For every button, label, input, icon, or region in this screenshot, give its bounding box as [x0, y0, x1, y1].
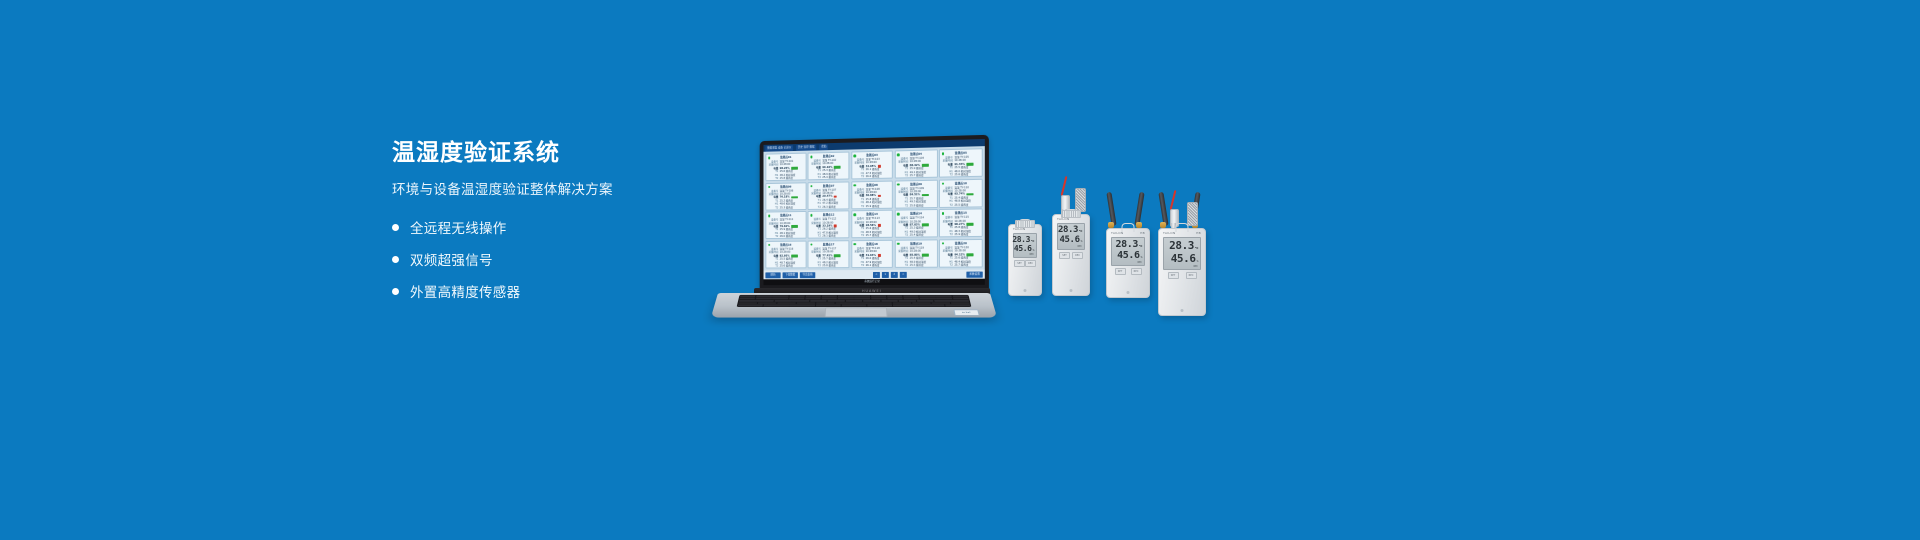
probe-cable: [1061, 176, 1068, 196]
sensor-card-row: T226.3 摄氏度: [810, 205, 847, 209]
sensor-card-row: T225.8 摄氏度: [768, 176, 804, 180]
laptop-screen: 数据采集 设备 记录仪 历史 监控 数据 帮助 监测点01设备号温湿 TY-10…: [763, 139, 984, 285]
lcd-display: 28.3℃45.6%REC: [1163, 237, 1201, 270]
humidity-unit: %: [1197, 259, 1198, 263]
pager-prev[interactable]: <: [873, 271, 880, 277]
sensor-card-row: T225.7 摄氏度: [942, 263, 981, 267]
sensor-row-key: T2: [853, 175, 864, 179]
keyboard-key[interactable]: [867, 305, 892, 307]
status-led-icon: [768, 244, 770, 247]
keyboard-key[interactable]: [945, 305, 970, 307]
sensor-card-header: 监测点04: [897, 151, 935, 157]
sensor-card-grid: 监测点01设备号温湿 TY-101采集时间10:28:00电量98.26%T12…: [763, 146, 984, 270]
lcd-display: 28.3℃45.6%REC: [1111, 237, 1145, 266]
sensor-card-header: 监测点13: [853, 212, 890, 218]
sensor-card[interactable]: 监测点09设备号温湿 TY-109采集时间10:28:00电量84.51%T12…: [895, 179, 938, 208]
pager-next[interactable]: >: [900, 271, 907, 277]
device-model-label: HB: [1140, 231, 1145, 235]
toolbar-button-download[interactable]: 下载数据: [783, 272, 798, 278]
sensor-card[interactable]: 监测点11设备号温湿 TY-111采集时间10:28:00电量79.62%T12…: [765, 211, 806, 239]
sensor-card-row: T225.6 摄氏度: [942, 173, 981, 177]
sensor-card-header: 监测点11: [768, 213, 804, 218]
sensor-card[interactable]: 监测点13设备号温湿 TY-113采集时间10:28:00电量28.56%T12…: [851, 210, 893, 239]
sensor-row-value: 25.7 摄氏度: [954, 263, 968, 267]
sensor-card[interactable]: 监测点20设备号温湿 TY-120采集时间10:28:00电量94.12%T12…: [939, 239, 983, 268]
sensor-card-title: 监测点17: [823, 242, 834, 247]
temperature-unit: ℃: [1079, 229, 1082, 233]
sensor-card-row: T225.4 摄氏度: [897, 234, 935, 238]
sensor-row-key: T2: [810, 176, 821, 180]
laptop-base: intel: [711, 293, 997, 318]
sensor-row-key: T2: [897, 174, 908, 178]
sensor-row-value: 26.0 摄氏度: [780, 235, 793, 238]
sensor-card-row: T225.3 摄氏度: [768, 206, 804, 210]
sensor-card-row: T225.8 摄氏度: [810, 264, 847, 268]
sensor-card-row: T225.5 摄氏度: [942, 203, 981, 207]
status-led-icon: [853, 184, 856, 187]
sensor-row-value: 26.1 摄氏度: [822, 235, 835, 239]
device-button[interactable]: SET: [1115, 268, 1126, 275]
sensor-probe-mesh: [1187, 202, 1198, 226]
temperature-value: 28.3: [1058, 225, 1078, 235]
status-led-icon: [810, 214, 813, 217]
sensor-card-row: T225.7 摄氏度: [897, 174, 935, 178]
sensor-card-row: T225.5 摄氏度: [897, 264, 935, 268]
temperature-value: 28.3: [1012, 235, 1030, 244]
sensor-card-header: 监测点16: [768, 242, 804, 247]
sensor-card-title: 监测点09: [910, 182, 922, 187]
sensor-card-title: 监测点16: [780, 243, 791, 248]
device-button[interactable]: SET: [1014, 260, 1025, 267]
device-button[interactable]: SET: [1168, 272, 1179, 279]
sensor-row-value: 25.7 摄氏度: [866, 234, 880, 238]
sensor-row-key: T2: [897, 234, 908, 238]
pager-page-2[interactable]: 2: [891, 271, 898, 277]
toolbar-button-settings[interactable]: 系统设置: [966, 271, 982, 277]
sensor-card-row: T226.1 摄氏度: [853, 264, 890, 268]
sensor-row-value: 25.4 摄氏度: [822, 176, 835, 180]
sensor-card-title: 监测点04: [910, 152, 922, 157]
status-led-icon: [810, 243, 813, 246]
laptop-touchpad[interactable]: [825, 308, 888, 317]
banner-subtitle: 环境与设备温湿度验证整体解决方案: [392, 182, 722, 200]
feature-label: 全远程无线操作: [410, 217, 507, 237]
sensor-row-key: T2: [897, 204, 908, 208]
sensor-card-row: T225.6 摄氏度: [768, 264, 804, 268]
vent-grille: [1061, 210, 1081, 218]
lcd-temperature-line: 28.3℃: [1060, 225, 1082, 235]
bullet-dot-icon: [392, 224, 399, 231]
device-button[interactable]: REC: [1025, 260, 1036, 267]
lcd-humidity-line: 45.6%: [1060, 235, 1082, 245]
feature-label: 双频超强信号: [410, 249, 493, 269]
sensor-row-key: T2: [942, 233, 953, 237]
humidity-value: 45.6: [1171, 252, 1196, 265]
sensor-row-value: 25.8 摄氏度: [822, 264, 835, 267]
sensor-card-header: 监测点12: [810, 213, 847, 218]
sensor-card[interactable]: 监测点19设备号温湿 TY-119采集时间10:28:00电量85.80%T12…: [895, 239, 938, 268]
humidity-value: 45.6: [1014, 244, 1032, 253]
sensor-card-header: 监测点03: [853, 153, 890, 159]
keyboard-row: [738, 305, 970, 307]
device-body: TAILON28.3℃45.6%RECSETREC: [1052, 214, 1090, 296]
sensor-card-title: 监测点06: [780, 184, 791, 189]
feature-label: 外置高精度传感器: [410, 281, 520, 301]
status-led-icon: [853, 213, 856, 216]
device-button-row: SETREC: [1053, 250, 1089, 259]
sensor-row-key: T2: [768, 206, 778, 210]
sensor-card[interactable]: 监测点01设备号温湿 TY-101采集时间10:28:00电量98.26%T12…: [765, 153, 806, 182]
status-led-icon: [897, 243, 900, 246]
sensor-row-key: T2: [853, 234, 864, 238]
temperature-unit: ℃: [1195, 246, 1198, 250]
sensor-card[interactable]: 监测点06设备号温湿 TY-106采集时间10:28:00电量76.18%T12…: [765, 182, 806, 210]
banner-copy: 温湿度验证系统 环境与设备温湿度验证整体解决方案 全远程无线操作 双频超强信号 …: [392, 140, 722, 313]
sensor-row-value: 25.9 摄氏度: [954, 233, 968, 237]
sensor-card-title: 监测点02: [823, 154, 834, 159]
sensor-card-title: 监测点14: [910, 212, 922, 217]
vent-grille: [1015, 220, 1035, 228]
sensor-row-key: T2: [942, 263, 953, 267]
humidity-unit: %: [1081, 239, 1082, 243]
feature-item: 外置高精度传感器: [392, 281, 722, 301]
device-body: TAILONHB28.3℃45.6%RECSETREC: [1106, 228, 1150, 298]
sensor-row-key: T2: [768, 235, 778, 238]
sensor-row-value: 26.0 摄氏度: [866, 175, 880, 179]
sensor-card-header: 监测点08: [853, 182, 890, 188]
lcd-humidity-line: 45.6%: [1166, 252, 1198, 265]
toolbar-button-refresh[interactable]: 刷新: [765, 272, 780, 278]
status-led-icon: [897, 213, 900, 216]
sensor-row-key: T2: [853, 205, 864, 209]
data-logger-device: TAILON28.3℃45.6%RECSETREC: [1052, 178, 1090, 320]
sensor-card[interactable]: 监测点17设备号温湿 TY-117采集时间10:28:00电量77.41%T12…: [808, 240, 850, 268]
lcd-display: 28.3℃45.6%REC: [1057, 223, 1085, 250]
sensor-card-title: 监测点18: [866, 242, 878, 247]
sensor-card-row: T225.7 摄氏度: [853, 234, 890, 238]
device-indicator-led-icon: [1024, 289, 1027, 292]
sensor-card-row: T225.8 摄氏度: [897, 204, 935, 208]
sensor-card[interactable]: 监测点02设备号温湿 TY-102采集时间10:28:00电量96.10%T12…: [808, 152, 850, 181]
sensor-card-title: 监测点03: [866, 153, 878, 158]
status-led-icon: [942, 242, 945, 245]
sensor-row-value: 25.7 摄氏度: [910, 174, 924, 178]
sensor-card-title: 监测点07: [823, 183, 834, 188]
lcd-temperature-line: 28.3℃: [1166, 239, 1198, 252]
sensor-row-key: T2: [942, 173, 953, 177]
sensor-card[interactable]: 监测点16设备号温湿 TY-116采集时间10:28:00电量82.95%T12…: [765, 240, 806, 268]
device-button-row: SETREC: [1159, 270, 1205, 279]
sensor-row-value: 25.5 摄氏度: [954, 203, 968, 207]
sensor-card-header: 监测点02: [810, 154, 847, 160]
pager-page-1[interactable]: 1: [882, 271, 889, 277]
device-button[interactable]: REC: [1186, 272, 1197, 279]
sensor-card-header: 监测点19: [897, 241, 935, 246]
sensor-row-key: T2: [897, 264, 908, 267]
hanging-hook-icon: [1122, 223, 1135, 232]
sensor-card-title: 监测点15: [955, 211, 967, 216]
device-model-label: HB: [1196, 231, 1201, 235]
device-button-row: SETREC: [1009, 258, 1041, 267]
lcd-status-text: REC: [1060, 245, 1082, 248]
temperature-unit: ℃: [1139, 244, 1142, 248]
device-body: TAILONHB28.3℃45.6%RECSETREC: [1158, 228, 1206, 316]
sensor-probe-mesh: [1075, 188, 1086, 212]
sensor-card-header: 监测点14: [897, 211, 935, 217]
sensor-card[interactable]: 监测点05设备号温湿 TY-105采集时间10:28:00电量91.33%T12…: [939, 148, 983, 178]
sensor-row-key: T2: [853, 264, 864, 267]
sensor-row-value: 25.4 摄氏度: [910, 234, 924, 238]
sensor-card-row: T226.1 摄氏度: [810, 235, 847, 239]
page-title: 温湿度验证系统: [392, 140, 722, 168]
device-button[interactable]: SET: [1059, 252, 1070, 259]
keyboard-key[interactable]: [816, 305, 841, 307]
keyboard-key[interactable]: [919, 305, 944, 307]
menu-item-history[interactable]: 历史 监控 数据: [796, 144, 816, 150]
sensor-card[interactable]: 监测点10设备号温湿 TY-110采集时间10:28:00电量93.74%T12…: [939, 178, 983, 207]
sensor-card[interactable]: 监测点12设备号温湿 TY-112采集时间10:28:00电量33.19%T12…: [808, 211, 850, 239]
sensor-row-key: T2: [810, 264, 821, 267]
sensor-card-title: 监测点20: [955, 241, 967, 246]
data-logger-device: TAILONHB28.3℃45.6%RECSETREC: [1106, 192, 1150, 322]
sensor-row-value: 25.9 摄氏度: [866, 205, 880, 209]
sensor-row-value: 25.3 摄氏度: [780, 206, 793, 210]
sensor-card-header: 监测点18: [853, 242, 890, 247]
status-led-icon: [768, 157, 770, 160]
sensor-card[interactable]: 监测点08设备号温湿 TY-108采集时间10:28:00电量30.88%T12…: [851, 180, 893, 209]
sensor-card[interactable]: 监测点15设备号温湿 TY-115采集时间10:28:00电量90.27%T12…: [939, 209, 983, 238]
status-led-icon: [810, 155, 813, 158]
keyboard-key[interactable]: [790, 305, 815, 307]
device-button[interactable]: REC: [1131, 268, 1142, 275]
sensor-card-title: 监测点01: [780, 155, 791, 160]
status-led-icon: [897, 153, 900, 156]
product-banner: 温湿度验证系统 环境与设备温湿度验证整体解决方案 全远程无线操作 双频超强信号 …: [0, 0, 1920, 540]
sensor-card[interactable]: 监测点07设备号温湿 TY-107采集时间10:28:00电量29.47%T12…: [808, 181, 850, 210]
sensor-card-row: T226.0 摄氏度: [853, 175, 890, 179]
sensor-card-header: 监测点15: [942, 211, 981, 217]
status-led-icon: [942, 182, 945, 185]
humidity-value: 45.6: [1117, 250, 1139, 261]
status-led-icon: [810, 185, 813, 188]
sensor-row-value: 25.8 摄氏度: [780, 177, 793, 181]
temperature-unit: ℃: [1031, 239, 1034, 243]
sensor-row-value: 26.3 摄氏度: [822, 205, 835, 209]
sensor-card-title: 监测点08: [866, 183, 878, 188]
sensor-card-row: T225.4 摄氏度: [810, 176, 847, 180]
toolbar-button-export[interactable]: 导出表格: [800, 272, 815, 278]
sensor-card-header: 监测点01: [768, 155, 804, 161]
sensor-card-row: T226.0 摄氏度: [768, 235, 804, 239]
sensor-card-header: 监测点10: [942, 181, 981, 187]
sensor-card-row: T225.9 摄氏度: [853, 204, 890, 208]
sensor-row-key: T2: [810, 235, 821, 238]
sensor-card-title: 监测点11: [780, 213, 791, 218]
lcd-humidity-line: 45.6%: [1114, 250, 1142, 261]
sensor-card-title: 监测点19: [910, 241, 922, 246]
sensor-row-key: T2: [768, 177, 778, 181]
lcd-humidity-line: 45.6%: [1016, 244, 1034, 253]
status-led-icon: [942, 152, 945, 155]
humidity-unit: %: [1033, 248, 1034, 252]
lcd-status-text: REC: [1166, 265, 1198, 268]
status-led-icon: [768, 215, 770, 218]
lcd-status-text: REC: [1016, 253, 1034, 256]
sensor-row-value: 25.8 摄氏度: [910, 204, 924, 208]
humidity-unit: %: [1141, 255, 1142, 259]
status-led-icon: [942, 212, 945, 215]
data-logger-device: TAILONHB28.3℃45.6%RECSETREC: [1158, 192, 1206, 340]
sensor-card[interactable]: 监测点03设备号温湿 TY-103采集时间10:28:00电量32.05%T12…: [851, 150, 893, 179]
sensor-card-row: T225.9 摄氏度: [942, 233, 981, 237]
device-button-row: SETREC: [1107, 266, 1149, 275]
device-indicator-led-icon: [1181, 309, 1184, 312]
sensor-card-header: 监测点20: [942, 241, 981, 246]
sensor-row-key: T2: [942, 203, 953, 207]
app-statusbar: 系统运行正常: [763, 279, 984, 285]
sensor-card[interactable]: 监测点04设备号温湿 TY-104采集时间10:28:00电量88.42%T12…: [895, 149, 938, 178]
sensor-card[interactable]: 监测点14设备号温湿 TY-114采集时间10:28:00电量87.03%T12…: [895, 209, 938, 238]
device-button[interactable]: REC: [1072, 252, 1083, 259]
sensor-card-title: 监测点13: [866, 212, 878, 217]
data-logger-device: TAILON28.3℃45.6%RECSETREC: [1008, 188, 1042, 320]
processor-sticker: intel: [953, 310, 979, 316]
lcd-temperature-line: 28.3℃: [1016, 235, 1034, 244]
sensor-card-header: 监测点07: [810, 183, 847, 189]
keyboard-key[interactable]: [841, 305, 866, 307]
status-led-icon: [768, 186, 770, 189]
device-body: TAILON28.3℃45.6%RECSETREC: [1008, 224, 1042, 296]
device-indicator-led-icon: [1070, 289, 1073, 292]
device-brand-label: TAILON: [1163, 231, 1176, 235]
sensor-card-title: 监测点10: [955, 181, 967, 186]
laptop-keyboard[interactable]: [737, 295, 972, 307]
sensor-row-value: 26.1 摄氏度: [866, 264, 880, 267]
status-led-icon: [853, 243, 856, 246]
sensor-row-value: 25.6 摄氏度: [954, 173, 968, 177]
lcd-display: 28.3℃45.6%REC: [1013, 233, 1037, 258]
bullet-dot-icon: [392, 256, 399, 263]
sensor-row-value: 25.5 摄氏度: [910, 264, 924, 268]
sensor-card-title: 监测点12: [823, 213, 834, 218]
lcd-status-text: REC: [1114, 261, 1142, 264]
feature-item: 双频超强信号: [392, 249, 722, 269]
sensor-card-header: 监测点17: [810, 242, 847, 247]
status-led-icon: [853, 154, 856, 157]
sensor-row-key: T2: [768, 264, 778, 267]
sensor-row-key: T2: [810, 205, 821, 209]
bullet-dot-icon: [392, 288, 399, 295]
sensor-card-header: 监测点09: [897, 181, 935, 187]
sensor-card-header: 监测点06: [768, 184, 804, 190]
temperature-value: 28.3: [1116, 239, 1138, 250]
feature-item: 全远程无线操作: [392, 217, 722, 237]
lcd-temperature-line: 28.3℃: [1114, 239, 1142, 250]
status-led-icon: [897, 183, 900, 186]
probe-cable: [1170, 190, 1177, 210]
humidity-value: 45.6: [1060, 235, 1080, 245]
keyboard-key[interactable]: [893, 305, 918, 307]
sensor-card-header: 监测点05: [942, 150, 981, 156]
device-indicator-led-icon: [1127, 291, 1130, 294]
sensor-row-value: 25.6 摄氏度: [780, 264, 793, 267]
menu-item-help[interactable]: 帮助: [819, 144, 828, 150]
temperature-value: 28.3: [1169, 239, 1194, 252]
hanging-hook-icon: [1176, 223, 1189, 232]
keyboard-key[interactable]: [738, 305, 763, 307]
laptop-lid: 数据采集 设备 记录仪 历史 监控 数据 帮助 监测点01设备号温湿 TY-10…: [760, 135, 989, 294]
keyboard-key[interactable]: [764, 305, 789, 307]
sensor-card-title: 监测点05: [955, 151, 967, 156]
sensor-card[interactable]: 监测点18设备号温湿 TY-118采集时间10:28:00电量31.64%T12…: [851, 240, 893, 268]
